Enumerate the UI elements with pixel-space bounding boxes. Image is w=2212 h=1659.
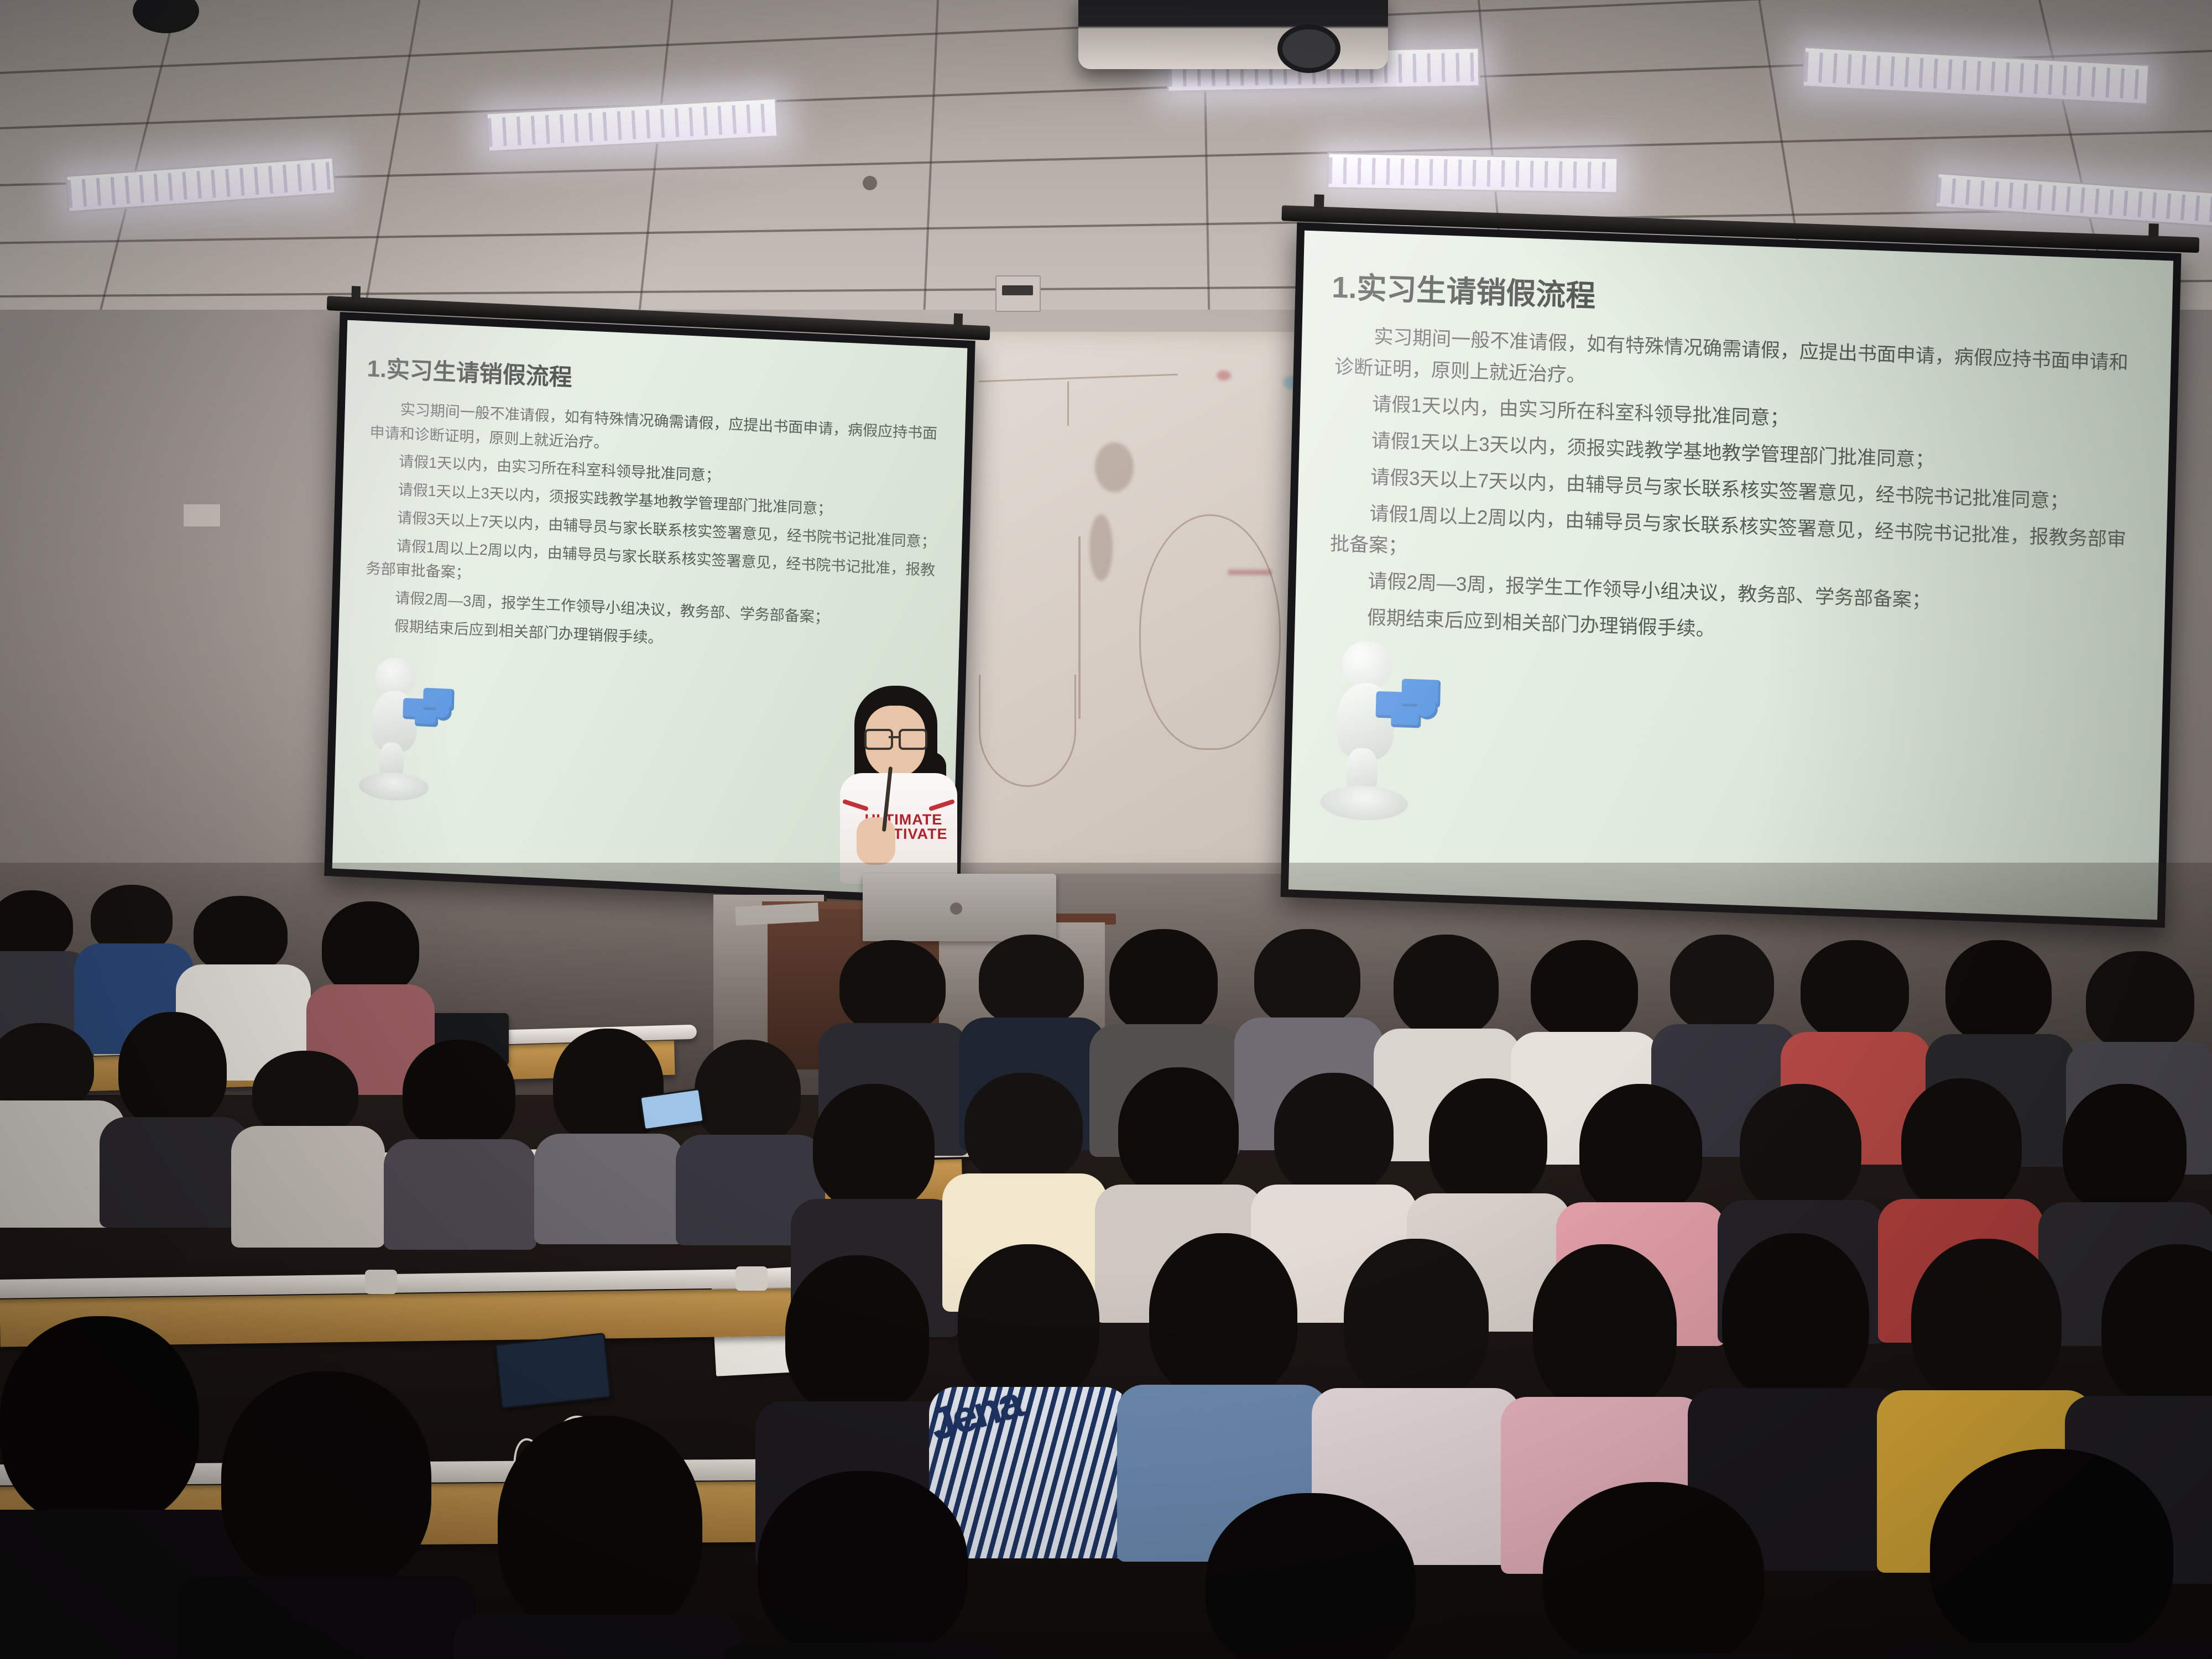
student	[387, 1040, 531, 1244]
slide-paragraph: 请假1周以上2周以内，由辅导员与家长联系核实签署意见，经书院书记批准，报教务部审…	[1329, 497, 2133, 588]
slide-paragraph: 请假3天以上7天以内，由辅导员与家长联系核实签署意见，经书院书记批准同意；	[1331, 461, 2135, 520]
slide-body: 实习期间一般不准请假，如有特殊情况确需请假，应提出书面申请，病假应持书面申请和诊…	[1328, 320, 2138, 665]
slide-mascot-figure	[347, 653, 456, 807]
slide-paragraph: 请假2周—3周，报学生工作领导小组决议，教务部、学务部备案；	[365, 585, 936, 635]
lecture-hall-photo: 1.实习生请销假流程 实习期间一般不准请假，如有特殊情况确需请假，应提出书面申请…	[0, 0, 2212, 1659]
right-projection-screen: 1.实习生请销假流程 实习期间一般不准请假，如有特殊情况确需请假，应提出书面申请…	[1281, 222, 2182, 927]
student	[719, 1471, 1006, 1659]
presenter: ULTIMATE CULTIVATE	[832, 686, 965, 885]
slide-paragraph: 假期结束后应到相关部门办理销假手续。	[364, 613, 935, 664]
presenter-arm	[857, 817, 895, 865]
slide-right: 1.实习生请销假流程 实习期间一般不准请假，如有特殊情况确需请假，应提出书面申请…	[1288, 231, 2173, 920]
slide-paragraph: 请假1天以上3天以内，须报实践教学基地教学管理部门批准同意；	[368, 477, 938, 527]
slide-paragraph: 请假2周—3周，报学生工作领导小组决议，教务部、学务部备案；	[1329, 565, 2132, 624]
projector-lens-icon	[1277, 24, 1340, 73]
slide-paragraph: 假期结束后应到相关部门办理销假手续。	[1328, 601, 2131, 660]
student	[453, 1416, 741, 1659]
student	[1493, 1482, 1803, 1659]
student	[105, 1012, 243, 1222]
student	[536, 1029, 680, 1239]
student	[182, 1371, 470, 1659]
slide-paragraph: 请假1天以内，由实习所在科室科领导批准同意；	[1333, 388, 2137, 447]
slide-mascot-figure	[1307, 635, 1444, 827]
slide-paragraph: 实习期间一般不准请假，如有特殊情况确需请假，应提出书面申请，病假应持书面申请和诊…	[1334, 320, 2138, 411]
student	[238, 1051, 376, 1239]
slide-body: 实习期间一般不准请假，如有特殊情况确需请假，应提出书面申请，病假应持书面申请和诊…	[364, 397, 941, 667]
puzzle-piece-icon	[1373, 674, 1446, 734]
slide-paragraph: 实习期间一般不准请假，如有特殊情况确需请假，应提出书面申请，病假应持书面申请和诊…	[369, 397, 941, 471]
ceiling-light-fixture	[1934, 173, 2212, 228]
glasses-icon	[864, 729, 925, 745]
slide-paragraph: 请假1天以上3天以内，须报实践教学基地教学管理部门批准同意；	[1332, 424, 2136, 483]
slide-title: 1.实习生请销假流程	[367, 349, 572, 393]
student	[1869, 1449, 2212, 1659]
ceiling-sprinkler	[863, 176, 877, 190]
slide-paragraph: 请假3天以上7天以内，由辅导员与家长联系核实签署意见，经书院书记批准同意；	[367, 505, 938, 555]
wall-control-panel[interactable]	[995, 275, 1041, 312]
student	[0, 1023, 116, 1222]
puzzle-piece-icon	[400, 684, 459, 732]
ceiling-light-fixture	[486, 97, 778, 152]
student	[1161, 1493, 1449, 1659]
smartphone[interactable]	[494, 1333, 611, 1409]
ceiling-light-fixture	[1327, 152, 1618, 194]
slide-paragraph: 请假1天以内，由实习所在科室科领导批准同意；	[369, 448, 940, 499]
slide-paragraph: 请假1周以上2周以内，由辅导员与家长联系核实签署意见，经书院书记批准，报教务部审…	[366, 533, 937, 607]
ceiling-smoke-detector	[133, 0, 199, 33]
wall-bracket	[182, 503, 221, 528]
ceiling-light-fixture	[65, 156, 336, 213]
ceiling-projector	[1078, 0, 1388, 69]
slide-title: 1.实习生请销假流程	[1332, 263, 1597, 316]
